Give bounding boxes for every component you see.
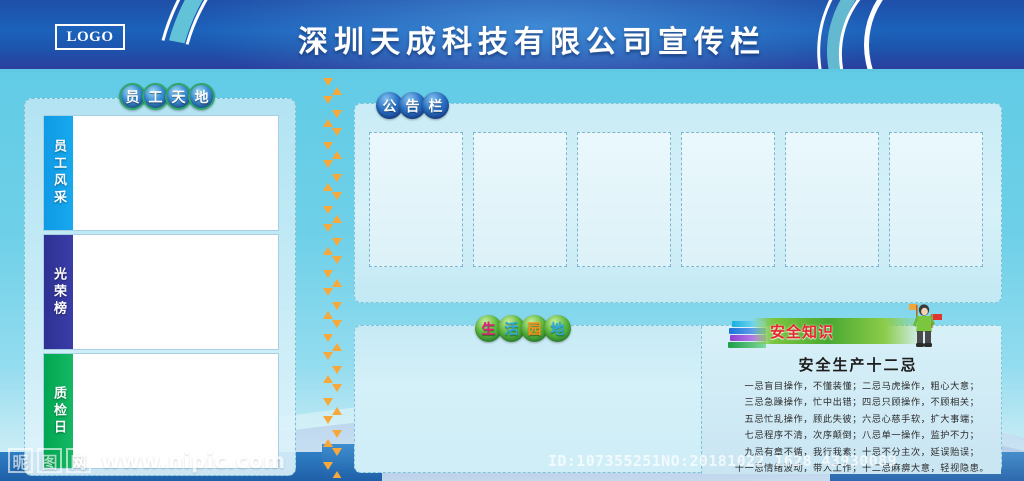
ribbon-triangle [323, 270, 333, 278]
site-watermark: 昵 图 网 www.nipic.com [8, 448, 286, 473]
ribbon-triangle [332, 215, 342, 223]
ribbon-triangle [332, 174, 342, 182]
bulletin-slot-list [369, 132, 983, 267]
ribbon-triangle [332, 430, 342, 438]
employee-tab-label-0: 员工风采 [44, 116, 73, 230]
bulletin-slot [785, 132, 879, 267]
employee-row-showcase: 员工风采 [43, 115, 279, 231]
ribbon-triangle [323, 334, 333, 342]
ribbon-triangle [323, 352, 333, 360]
employee-row-honor: 光荣榜 [43, 234, 279, 350]
safety-line-3: 七忌程序不清，次序颠倒；八忌单一操作，监护不力； [720, 427, 1004, 443]
bulletin-slot [889, 132, 983, 267]
ribbon-triangle [332, 192, 342, 200]
safety-line-0: 一忌盲目操作，不懂装懂；二忌马虎操作，粗心大意； [720, 378, 1004, 394]
ribbon-triangle [323, 462, 333, 470]
watermark-char-2: 网 [66, 448, 91, 473]
triangle-ribbon-divider [322, 78, 344, 478]
badge-bubble-3: 地 [188, 83, 215, 110]
ribbon-triangle [323, 375, 333, 383]
watermark-id-text: ID:107355251NO:20181022 1628 43930089 [548, 452, 897, 470]
bulletin-slot [369, 132, 463, 267]
ribbon-triangle [332, 110, 342, 118]
ribbon-triangle [323, 224, 333, 232]
bulletin-board-panel [354, 103, 1002, 303]
ribbon-triangle [332, 238, 342, 246]
ribbon-triangle [332, 366, 342, 374]
poster-title: 深圳天成科技有限公司宣传栏 [0, 17, 1024, 61]
ribbon-triangle [332, 302, 342, 310]
watermark-url: www.nipic.com [101, 449, 286, 473]
ribbon-triangle [323, 288, 333, 296]
ribbon-triangle [323, 142, 333, 150]
ribbon-triangle [323, 160, 333, 168]
bulletin-slot [681, 132, 775, 267]
safety-line-2: 五忌忙乱操作，顾此失彼；六忌心慈手软，扩大事端； [720, 411, 1004, 427]
ribbon-triangle [332, 320, 342, 328]
badge-bubble-3: 地 [544, 315, 571, 342]
watermark-char-0: 昵 [8, 448, 33, 473]
badge-bubble-2: 栏 [422, 92, 449, 119]
ribbon-triangle [323, 311, 333, 319]
ribbon-triangle [332, 471, 342, 478]
bulletin-slot [473, 132, 567, 267]
ribbon-triangle [332, 384, 342, 392]
ribbon-triangle [323, 247, 333, 255]
ribbon-triangle [323, 78, 333, 86]
employee-photo-slot-0 [73, 116, 278, 230]
safety-banner-label: 安全知识 [770, 321, 834, 342]
ribbon-triangle [332, 448, 342, 456]
ribbon-triangle [332, 87, 342, 95]
bulletin-board-badge: 公告栏 [376, 92, 445, 119]
watermark-char-1: 图 [37, 448, 62, 473]
ribbon-triangle [332, 128, 342, 136]
employee-tab-label-1: 光荣榜 [44, 235, 73, 349]
employee-zone-rows: 员工风采 光荣榜 质检日 [43, 115, 279, 472]
ribbon-triangle [323, 398, 333, 406]
safety-line-1: 三忌急躁操作，忙中出错；四忌只顾操作，不顾相关； [720, 394, 1004, 410]
safety-card-title: 安全生产十二忌 [712, 354, 1004, 375]
ribbon-triangle [323, 183, 333, 191]
ribbon-triangle [323, 439, 333, 447]
employee-zone-badge: 员工天地 [119, 83, 211, 110]
bulletin-slot [577, 132, 671, 267]
poster-canvas: LOGO 深圳天成科技有限公司宣传栏 员工风采 光荣榜 质检日 员工天地 公告栏 [0, 0, 1024, 481]
ribbon-triangle [332, 151, 342, 159]
ribbon-triangle [332, 279, 342, 287]
poster-header: LOGO 深圳天成科技有限公司宣传栏 [0, 0, 1024, 72]
employee-photo-slot-1 [73, 235, 278, 349]
life-garden-badge: 生活园地 [475, 315, 567, 342]
worker-figure-icon [905, 302, 945, 348]
ribbon-triangle [323, 119, 333, 127]
ribbon-triangle [332, 343, 342, 351]
ribbon-triangle [332, 256, 342, 264]
ribbon-triangle [323, 416, 333, 424]
employee-zone-panel: 员工风采 光荣榜 质检日 [24, 98, 296, 476]
ribbon-triangle [332, 407, 342, 415]
ribbon-triangle [323, 96, 333, 104]
ribbon-triangle [323, 206, 333, 214]
